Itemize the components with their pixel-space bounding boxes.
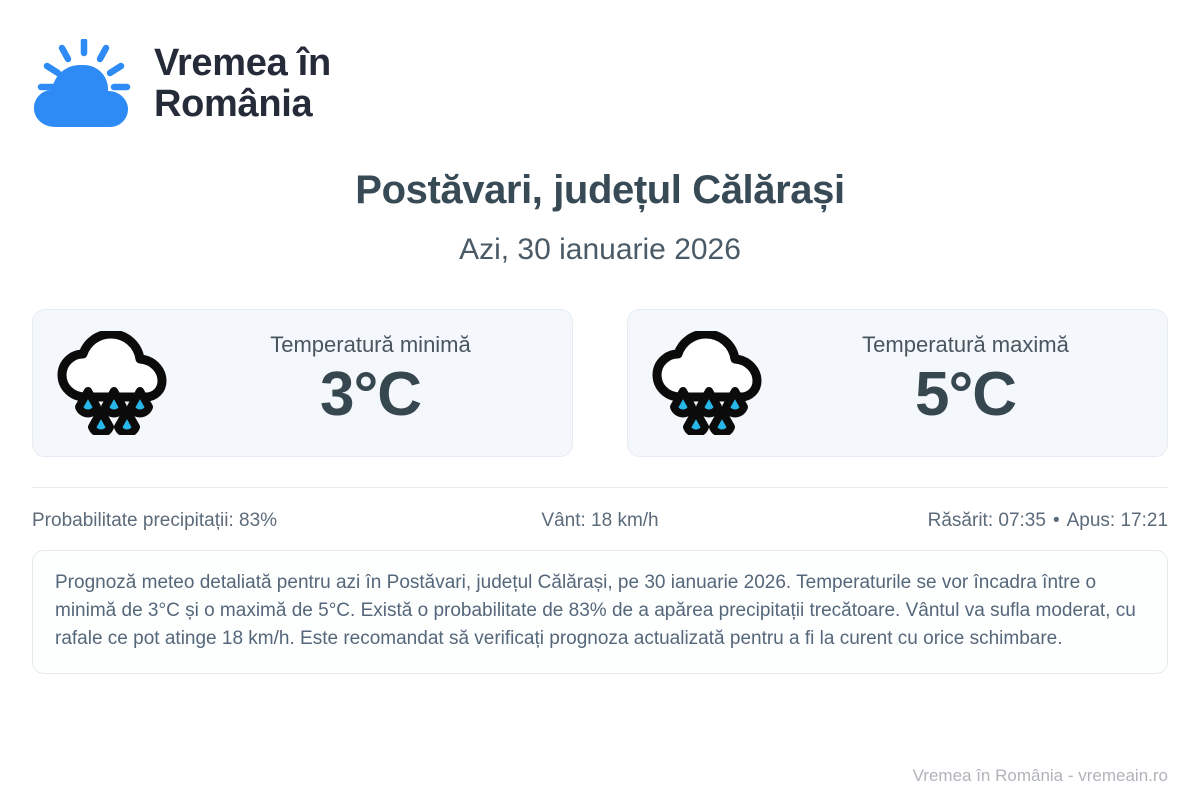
rain-cloud-icon (55, 331, 173, 435)
footer-credit: Vremea în România - vremeain.ro (913, 766, 1168, 786)
brand-header: Vremea în România (32, 0, 1168, 120)
sunset-value: Apus: 17:21 (1067, 510, 1168, 531)
page-title: Postăvari, județul Călărași (32, 168, 1168, 213)
sun-times-separator: • (1046, 510, 1067, 531)
precipitation-stat: Probabilitate precipitații: 83% (32, 510, 411, 532)
stats-row: Probabilitate precipitații: 83% Vânt: 18… (32, 487, 1168, 532)
weather-page: Vremea în România Postăvari, județul Căl… (0, 0, 1200, 800)
min-temperature-label: Temperatură minimă (270, 332, 471, 358)
min-temperature-card: Temperatură minimă 3°C (32, 309, 573, 457)
forecast-description: Prognoză meteo detaliată pentru azi în P… (32, 550, 1168, 674)
temperature-cards: Temperatură minimă 3°C Temperatură maxim… (32, 309, 1168, 457)
sun-times-stat: Răsărit: 07:35•Apus: 17:21 (789, 510, 1168, 532)
sun-behind-cloud-icon (32, 39, 136, 129)
sunrise-value: Răsărit: 07:35 (928, 510, 1046, 531)
min-temperature-value: 3°C (320, 360, 421, 429)
max-temperature-value: 5°C (915, 360, 1016, 429)
max-temperature-card: Temperatură maximă 5°C (627, 309, 1168, 457)
min-temperature-texts: Temperatură minimă 3°C (191, 332, 550, 434)
page-subtitle: Azi, 30 ianuarie 2026 (32, 233, 1168, 267)
max-temperature-label: Temperatură maximă (862, 332, 1069, 358)
rain-cloud-icon (650, 331, 768, 435)
wind-stat: Vânt: 18 km/h (411, 510, 790, 532)
max-temperature-texts: Temperatură maximă 5°C (786, 332, 1145, 434)
brand-name: Vremea în România (154, 43, 331, 125)
